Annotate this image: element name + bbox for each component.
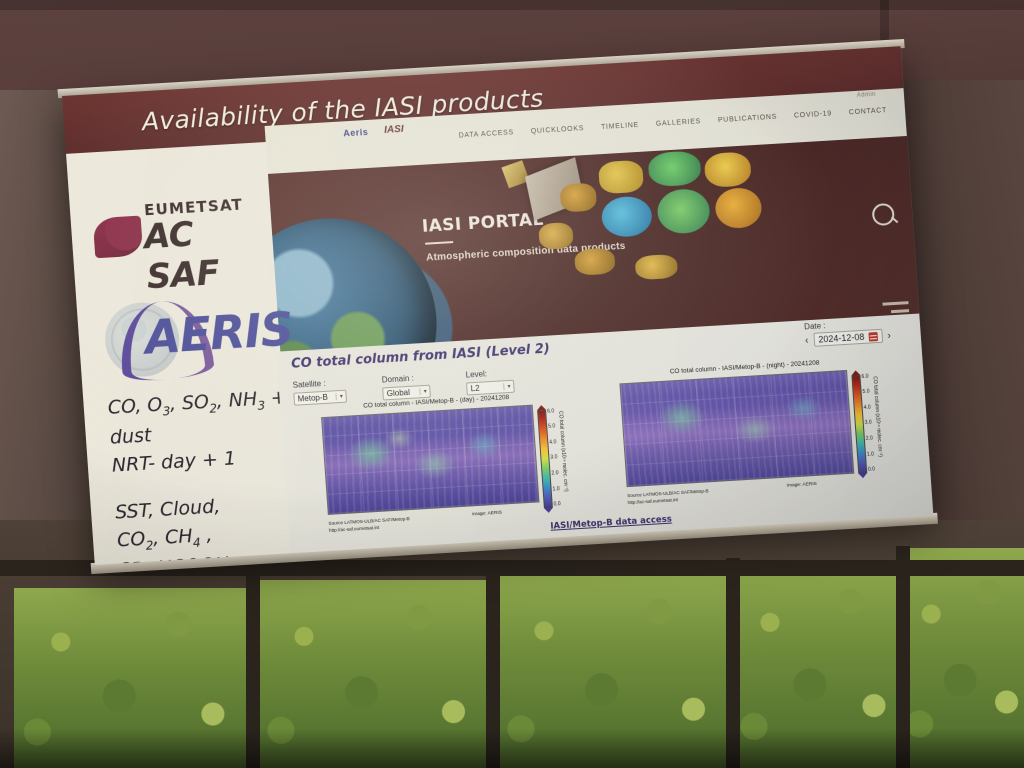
map-night-ytick: 0° (619, 435, 622, 441)
map-day[interactable]: CO total column - IASI/Metop-B - (day) -… (296, 390, 584, 526)
nav-item-quicklooks[interactable]: QUICKLOOKS (531, 125, 585, 135)
nav-item-contact[interactable]: CONTACT (849, 107, 888, 116)
calendar-icon[interactable] (868, 332, 878, 342)
date-controls: ‹ 2024-12-08 › (805, 328, 892, 347)
filter-label-domain: Domain : (382, 373, 431, 385)
map-day-cbar-tick: 1.0 (552, 486, 559, 492)
map-night-xtick: 60°W (698, 483, 711, 487)
filter-label-level: Level: (465, 368, 514, 380)
map-night-cbar-tick: 0.0 (868, 466, 875, 472)
globe-thumbnail (647, 150, 701, 187)
globe-thumbnail (714, 187, 763, 230)
map-day-cbar-tick: 4.0 (549, 439, 556, 445)
chevron-down-icon: ▾ (503, 383, 510, 390)
satellite-body-icon (501, 160, 529, 188)
hero-bar-decoration (882, 301, 908, 306)
date-value: 2024-12-08 (818, 332, 865, 345)
map-night-xtick: 180° (844, 475, 855, 482)
map-night-plot: 90°N 60°N 30°N 0° 30°S 60°S 180° 120°W 6… (619, 370, 854, 487)
map-night-cbar-tick: 1.0 (867, 451, 874, 457)
map-night-source: Source LATMOS-ULB/AC SAF/Metop-B http://… (627, 488, 709, 507)
map-day-xtick: 0° (431, 510, 436, 515)
chevron-down-icon: ▾ (419, 388, 426, 395)
map-night-ytick: 30°N (619, 419, 621, 426)
chevron-down-icon: ▾ (336, 393, 343, 400)
hero-divider (425, 241, 453, 245)
map-day-cbar-tick: 3.0 (550, 454, 557, 460)
nav-item-covid-19[interactable]: COVID-19 (794, 110, 832, 119)
domain-value: Global (386, 388, 410, 398)
website-nav-items: DATA ACCESS QUICKLOOKS TIMELINE GALLERIE… (458, 107, 887, 139)
map-day-cbar-tick: 5.0 (548, 423, 555, 429)
globe-thumbnail (704, 151, 752, 188)
globe-thumbnail (635, 254, 679, 280)
ceiling-beam (0, 0, 1024, 10)
iasi-small-logo: IASI (384, 124, 404, 136)
eumetsat-acsaf-logo: EUMETSAT AC SAF (91, 184, 276, 265)
globe-thumbnail (559, 183, 597, 213)
map-day-cbar-tick: 0.0 (553, 501, 560, 507)
filter-label-satellite: Satellite : (292, 378, 346, 390)
map-day-xtick: 120°W (359, 513, 374, 515)
hero-title: IASI PORTAL (421, 210, 544, 237)
globe-thumbnail (574, 248, 616, 276)
satellite-value: Metop-B (297, 393, 328, 404)
map-day-credit: image: AERIS (472, 511, 502, 518)
acsaf-mark-icon (93, 216, 144, 259)
date-input[interactable]: 2024-12-08 (813, 329, 883, 347)
map-night-cbar-tick: 6.0 (861, 374, 868, 380)
map-day-ytick: 60°N (321, 434, 322, 441)
level-value: L2 (470, 384, 480, 394)
map-night-credit: image: AERIS (787, 482, 817, 489)
map-day-gridlines (322, 406, 538, 514)
date-selector: Date : ‹ 2024-12-08 › (804, 317, 891, 347)
map-night[interactable]: CO total column - IASI/Metop-B - (night)… (595, 355, 903, 496)
website-screenshot: Aeris IASI Admin DATA ACCESS QUICKLOOKS … (265, 88, 920, 355)
filter-domain: Domain : Global ▾ (382, 373, 432, 401)
map-day-ytick: 30°N (321, 451, 323, 458)
date-next-button[interactable]: › (887, 330, 891, 341)
map-night-cbar-tick: 3.0 (865, 420, 872, 426)
floor-shadow (0, 728, 1024, 768)
nav-item-galleries[interactable]: GALLERIES (656, 118, 702, 128)
nav-item-timeline[interactable]: TIMELINE (601, 122, 639, 131)
map-day-plot: 90°N 60°N 30°N 0° 30°S 60°S 180° 120°W 6… (321, 405, 539, 515)
filter-level: Level: L2 ▾ (465, 368, 515, 396)
map-day-cbar-tick: 6.0 (547, 408, 554, 414)
globe-thumbnail (656, 188, 711, 235)
map-night-ytick: 60°S (619, 471, 625, 478)
map-night-cbar-tick: 5.0 (862, 389, 869, 395)
map-night-cbar-tick: 4.0 (864, 405, 871, 411)
map-day-ytick: 30°S (321, 482, 325, 489)
slide-surface: Availability of the IASI products EUMETS… (62, 46, 933, 565)
map-day-xtick: 180° (529, 503, 539, 510)
acsaf-label: AC SAF (143, 210, 278, 298)
globe-thumbnail (538, 222, 574, 250)
nav-admin-link[interactable]: Admin (857, 92, 876, 99)
map-night-xtick: 60°E (771, 479, 782, 486)
map-night-ytick: 30°S (619, 453, 623, 460)
map-day-source: Source LATMOS-ULB/AC SAF/Metop-B http://… (328, 516, 410, 535)
map-day-ytick: 0° (321, 466, 324, 472)
hero-bar-decoration (891, 309, 909, 313)
search-icon[interactable] (872, 203, 895, 226)
aeris-logo: AERIS (98, 287, 304, 385)
map-day-cbar-tick: 2.0 (551, 470, 558, 476)
aeris-logo-text: AERIS (143, 302, 294, 365)
nav-item-publications[interactable]: PUBLICATIONS (718, 114, 778, 124)
map-night-xtick: 0° (738, 481, 743, 487)
globe-thumbnail (598, 160, 644, 195)
aeris-small-logo: Aeris (343, 126, 369, 137)
data-panel: CO total column from IASI (Level 2) Date… (276, 314, 933, 554)
nav-item-data-access[interactable]: DATA ACCESS (458, 129, 514, 139)
map-day-xtick: 60°W (394, 511, 407, 515)
map-night-xtick: 120°W (661, 485, 676, 487)
data-access-link[interactable]: IASI/Metop-B data access (550, 515, 672, 532)
website-header-logos: Aeris IASI (343, 124, 404, 139)
filter-satellite: Satellite : Metop-B ▾ (292, 378, 347, 406)
projection-screen: Availability of the IASI products EUMETS… (62, 46, 933, 565)
map-day-ytick: 60°S (321, 500, 326, 507)
date-prev-button[interactable]: ‹ (805, 335, 809, 346)
map-night-cbar-tick: 2.0 (866, 436, 873, 442)
globe-thumbnail (600, 195, 653, 238)
map-night-gridlines (620, 371, 853, 486)
map-night-ytick: 60°N (619, 402, 620, 409)
